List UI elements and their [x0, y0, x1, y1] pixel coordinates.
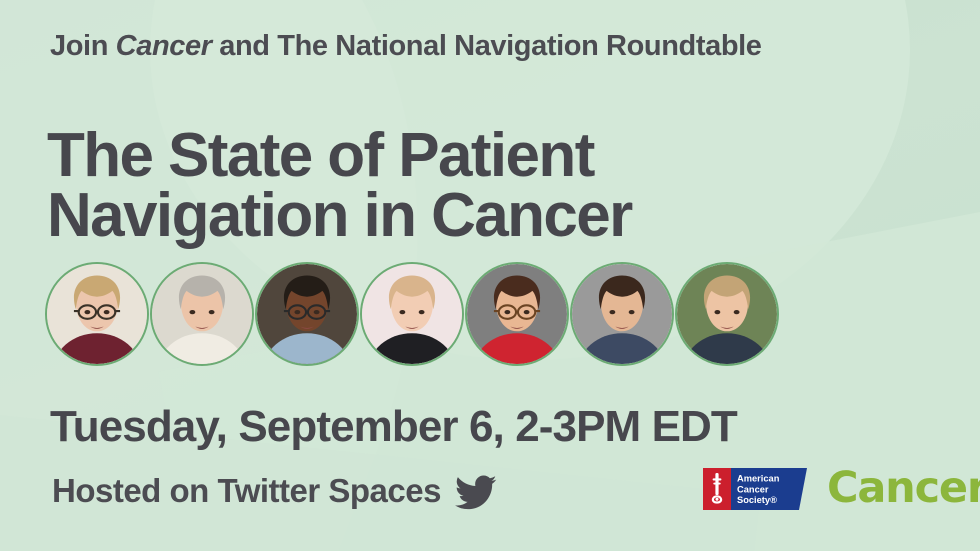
- speaker-portrait: [360, 262, 464, 366]
- american-cancer-society-logo: American Cancer Society® Cancer: [703, 467, 980, 510]
- poster-content: Join Cancer and The National Navigation …: [0, 0, 980, 551]
- svg-text:Cancer: Cancer: [737, 484, 769, 494]
- svg-text:Society®: Society®: [737, 495, 777, 505]
- portrait-photo: [362, 264, 462, 364]
- promotional-poster: Join Cancer and The National Navigation …: [0, 0, 980, 551]
- portrait-photo: [257, 264, 357, 364]
- speaker-portrait: [255, 262, 359, 366]
- event-date-time: Tuesday, September 6, 2-3PM EDT: [50, 402, 737, 452]
- portrait-photo: [152, 264, 252, 364]
- cancer-wordmark: Cancer: [827, 467, 980, 510]
- speaker-portrait-row: [45, 248, 780, 380]
- speaker-portrait: [150, 262, 254, 366]
- portrait-photo: [677, 264, 777, 364]
- speaker-portrait: [45, 262, 149, 366]
- speaker-portrait: [570, 262, 674, 366]
- eyebrow-prefix: Join: [50, 30, 116, 62]
- eyebrow-text: Join Cancer and The National Navigation …: [50, 30, 762, 63]
- speaker-portrait: [465, 262, 569, 366]
- twitter-bird-icon: [455, 475, 497, 510]
- svg-text:American: American: [737, 473, 780, 483]
- portrait-photo: [47, 264, 147, 364]
- portrait-photo: [467, 264, 567, 364]
- page-title: The State of Patient Navigation in Cance…: [47, 126, 632, 248]
- eyebrow-journal-name: Cancer: [116, 30, 212, 62]
- eyebrow-suffix: and The National Navigation Roundtable: [212, 30, 762, 62]
- acs-badge: American Cancer Society®: [703, 468, 818, 510]
- portrait-photo: [572, 264, 672, 364]
- speaker-portrait: [675, 262, 779, 366]
- hosted-platform-label: Hosted on Twitter Spaces: [52, 472, 441, 510]
- hosted-platform-row: Hosted on Twitter Spaces: [52, 472, 497, 510]
